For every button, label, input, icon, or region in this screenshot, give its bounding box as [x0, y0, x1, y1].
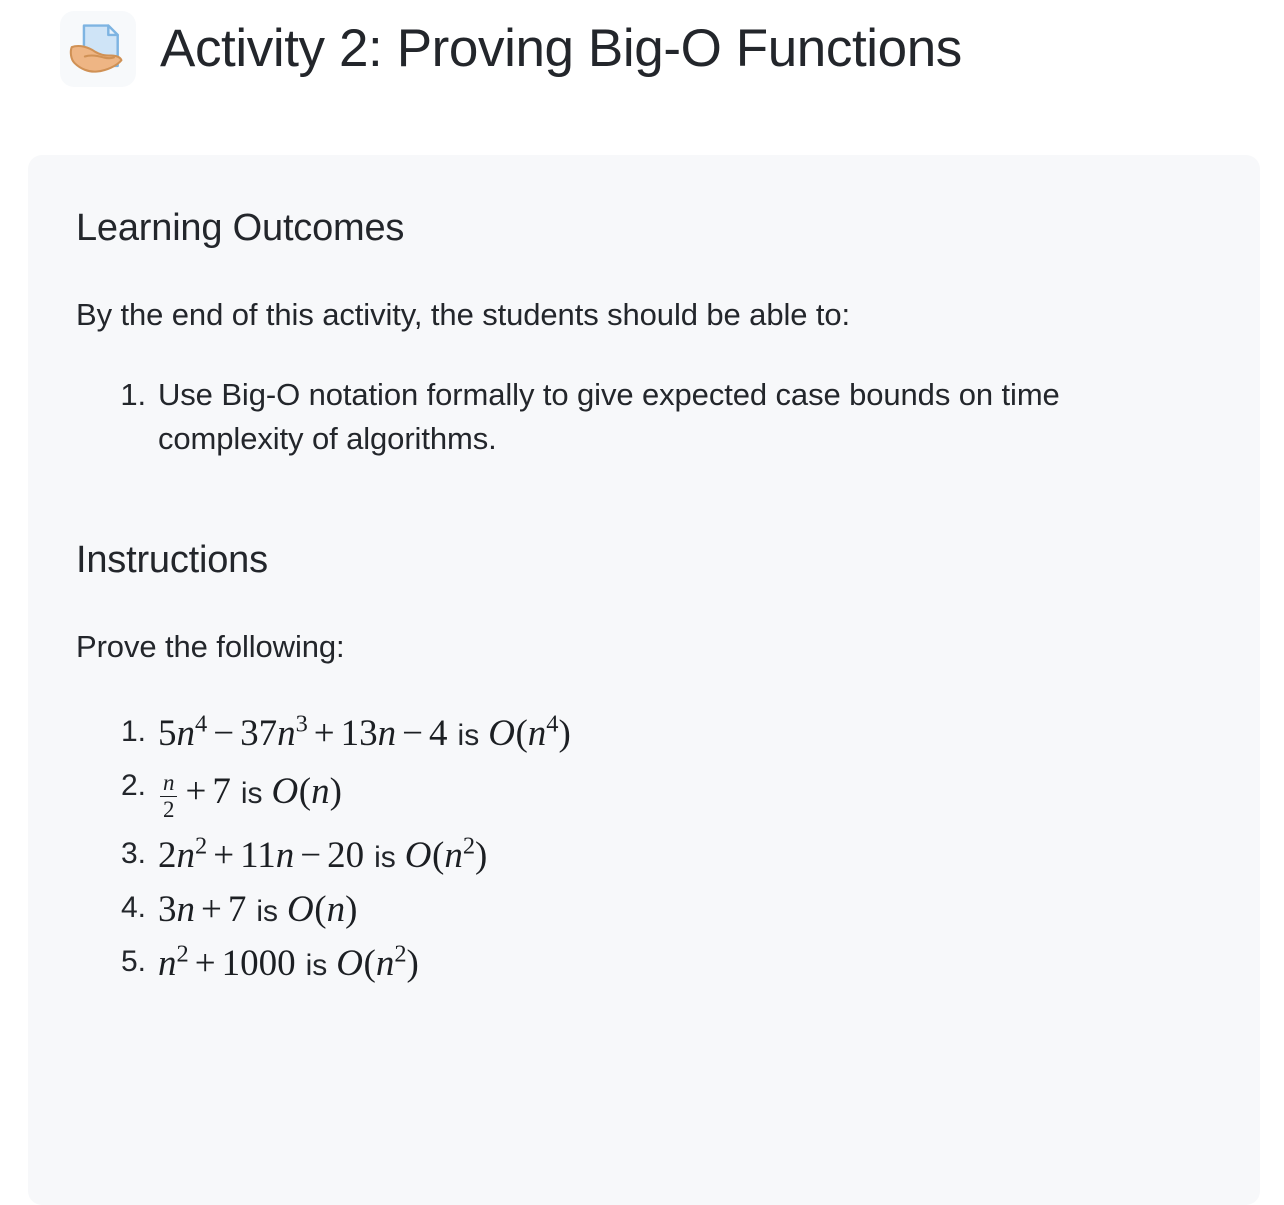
big-o-bound: O(n4) [488, 715, 571, 752]
proof-problems-list: 5n4−37n3+13n−4isO(n4)n2+7isO(n)2n2+11n−2… [48, 707, 1216, 991]
proof-problem-item: 5n4−37n3+13n−4isO(n4) [158, 707, 1216, 761]
is-connector: is [231, 779, 272, 809]
activity-content-card: Learning Outcomes By the end of this act… [28, 155, 1260, 1205]
proof-problem-item: n2+7isO(n) [158, 761, 1216, 829]
is-connector: is [448, 721, 489, 751]
learning-outcomes-list: Use Big-O notation formally to give expe… [48, 373, 1216, 461]
is-connector: is [296, 951, 337, 981]
page-title: Activity 2: Proving Big-O Functions [160, 21, 962, 77]
hand-holding-document-icon [60, 11, 136, 87]
big-o-bound: O(n2) [405, 837, 488, 874]
instructions-intro: Prove the following: [76, 627, 1216, 667]
learning-outcomes-heading: Learning Outcomes [76, 207, 1216, 251]
math-expression: 3n+7 [158, 891, 246, 928]
proof-problem-item: 2n2+11n−20isO(n2) [158, 829, 1216, 883]
big-o-bound: O(n) [287, 891, 357, 928]
is-connector: is [364, 843, 405, 873]
big-o-bound: O(n) [272, 773, 342, 810]
proof-problem-item: 3n+7isO(n) [158, 883, 1216, 937]
instructions-heading: Instructions [76, 539, 1216, 583]
proof-problem-item: n2+1000isO(n2) [158, 937, 1216, 991]
math-expression: n2+1000 [158, 945, 296, 982]
is-connector: is [246, 897, 287, 927]
list-item: Use Big-O notation formally to give expe… [158, 373, 1168, 461]
page-header: Activity 2: Proving Big-O Functions [0, 0, 1284, 92]
big-o-bound: O(n2) [336, 945, 419, 982]
learning-outcomes-intro: By the end of this activity, the student… [76, 295, 1216, 335]
math-expression: 5n4−37n3+13n−4 [158, 715, 448, 752]
math-expression: 2n2+11n−20 [158, 837, 364, 874]
math-expression: n2+7 [158, 769, 231, 820]
